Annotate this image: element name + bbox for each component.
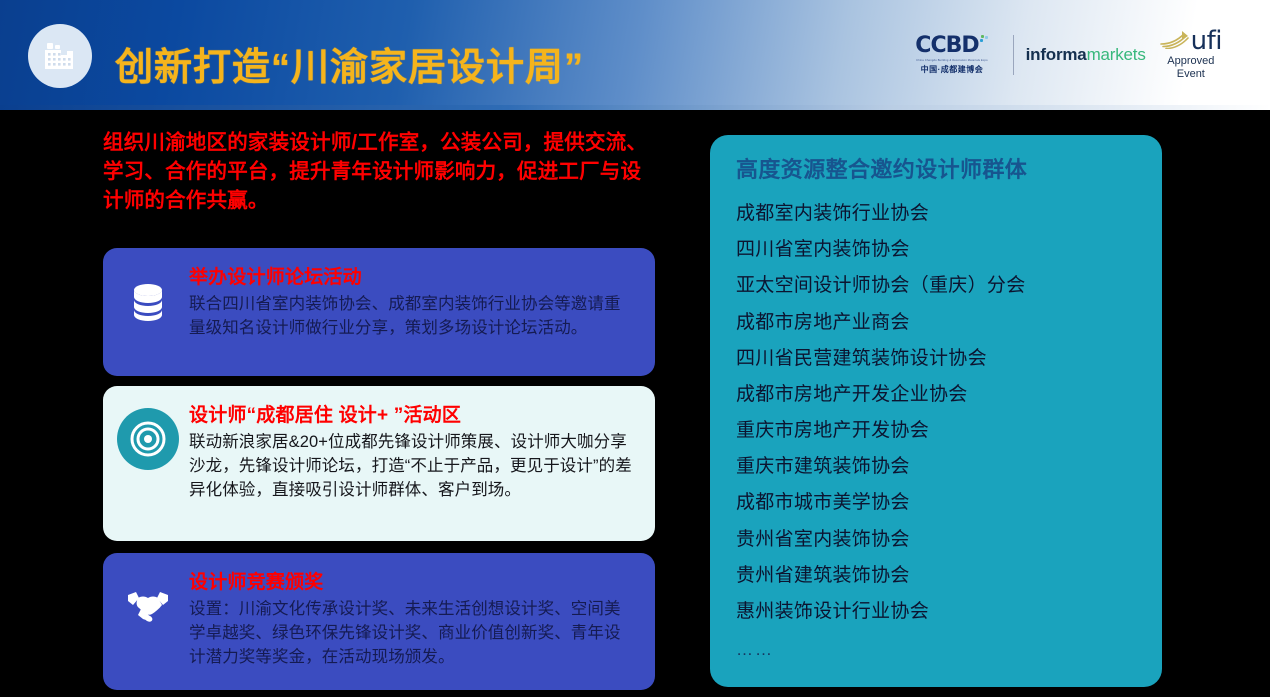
card-designer-competition-award[interactable]: 设计师竞赛颁奖 设置：川渝文化传承设计奖、未来生活创想设计奖、空间美学卓越奖、绿… bbox=[103, 553, 655, 690]
list-item: 重庆市建筑装饰协会 bbox=[736, 449, 1136, 485]
card-body: 设计师“成都居住 设计+ ”活动区 联动新浪家居&20+位成都先锋设计师策展、设… bbox=[189, 400, 637, 503]
logo-cluster: CCBD China Chengdu Building & Decoration… bbox=[915, 27, 1222, 83]
association-list: 成都室内装饰行业协会 四川省室内装饰协会 亚太空间设计师协会（重庆）分会 成都市… bbox=[736, 195, 1136, 629]
ccbd-dots-icon bbox=[979, 35, 989, 55]
informa-word: informa bbox=[1026, 45, 1087, 64]
list-item: 惠州装饰设计行业协会 bbox=[736, 593, 1136, 629]
ccbd-subline-cn: 中国·成都建博会 bbox=[921, 64, 984, 75]
page-title: 创新打造“川渝家居设计周” bbox=[115, 36, 584, 91]
list-item: 贵州省建筑装饰协会 bbox=[736, 557, 1136, 593]
card-text: 联动新浪家居&20+位成都先锋设计师策展、设计师大咖分享沙龙，先锋设计师论坛，打… bbox=[189, 431, 637, 503]
handshake-icon bbox=[117, 575, 179, 637]
list-item: 四川省室内装饰协会 bbox=[736, 232, 1136, 268]
list-item: 成都市房地产业商会 bbox=[736, 304, 1136, 340]
ufi-wordmark: ufi bbox=[1191, 30, 1222, 53]
slide-root: 创新打造“川渝家居设计周” CCBD China Chengdu Buildin… bbox=[0, 0, 1270, 697]
list-item: 亚太空间设计师协会（重庆）分会 bbox=[736, 268, 1136, 304]
card-body: 举办设计师论坛活动 联合四川省室内装饰协会、成都室内装饰行业协会等邀请重量级知名… bbox=[189, 262, 637, 341]
list-item: 重庆市房地产开发协会 bbox=[736, 413, 1136, 449]
header-bottom-edge bbox=[0, 105, 1270, 110]
panel-title: 高度资源整合邀约设计师群体 bbox=[736, 157, 1136, 183]
slide-header: 创新打造“川渝家居设计周” CCBD China Chengdu Buildin… bbox=[0, 0, 1270, 110]
list-item: 四川省民营建筑装饰设计协会 bbox=[736, 340, 1136, 376]
ccbd-wordmark: CCBD bbox=[915, 35, 978, 57]
ufi-approved-label: Approved bbox=[1167, 55, 1214, 68]
card-text: 联合四川省室内装饰协会、成都室内装饰行业协会等邀请重量级知名设计师做行业分享，策… bbox=[189, 293, 637, 341]
lead-paragraph: 组织川渝地区的家装设计师/工作室，公装公司，提供交流、学习、合作的平台，提升青年… bbox=[103, 128, 651, 215]
card-text: 设置：川渝文化传承设计奖、未来生活创想设计奖、空间美学卓越奖、绿色环保先锋设计奖… bbox=[189, 598, 637, 670]
card-designer-activity-zone[interactable]: 设计师“成都居住 设计+ ”活动区 联动新浪家居&20+位成都先锋设计师策展、设… bbox=[103, 386, 655, 541]
card-title: 设计师竞赛颁奖 bbox=[189, 571, 637, 595]
card-title: 举办设计师论坛活动 bbox=[189, 266, 637, 290]
card-body: 设计师竞赛颁奖 设置：川渝文化传承设计奖、未来生活创想设计奖、空间美学卓越奖、绿… bbox=[189, 567, 637, 670]
ufi-approved-event-logo: ufi Approved Event bbox=[1160, 29, 1222, 80]
database-stack-icon bbox=[117, 270, 179, 332]
ccbd-subline-en: China Chengdu Building & Decoration Mate… bbox=[916, 59, 988, 62]
factory-building-icon bbox=[28, 24, 92, 88]
markets-word: markets bbox=[1087, 45, 1146, 64]
card-title: 设计师“成都居住 设计+ ”活动区 bbox=[189, 404, 637, 428]
list-item: 成都市房地产开发企业协会 bbox=[736, 376, 1136, 412]
ccbd-logo: CCBD China Chengdu Building & Decoration… bbox=[915, 35, 1000, 75]
logo-divider bbox=[1013, 35, 1014, 75]
ufi-event-label: Event bbox=[1167, 68, 1214, 81]
list-item: 贵州省室内装饰协会 bbox=[736, 521, 1136, 557]
list-item: 成都室内装饰行业协会 bbox=[736, 195, 1136, 231]
ufi-swoosh-icon bbox=[1160, 29, 1190, 54]
card-designer-forum[interactable]: 举办设计师论坛活动 联合四川省室内装饰协会、成都室内装饰行业协会等邀请重量级知名… bbox=[103, 248, 655, 376]
list-ellipsis: …… bbox=[736, 640, 1136, 660]
resource-panel: 高度资源整合邀约设计师群体 成都室内装饰行业协会 四川省室内装饰协会 亚太空间设… bbox=[710, 135, 1162, 687]
target-bullseye-icon bbox=[117, 408, 179, 470]
informa-markets-logo: informamarkets bbox=[1026, 45, 1146, 65]
list-item: 成都市城市美学协会 bbox=[736, 485, 1136, 521]
